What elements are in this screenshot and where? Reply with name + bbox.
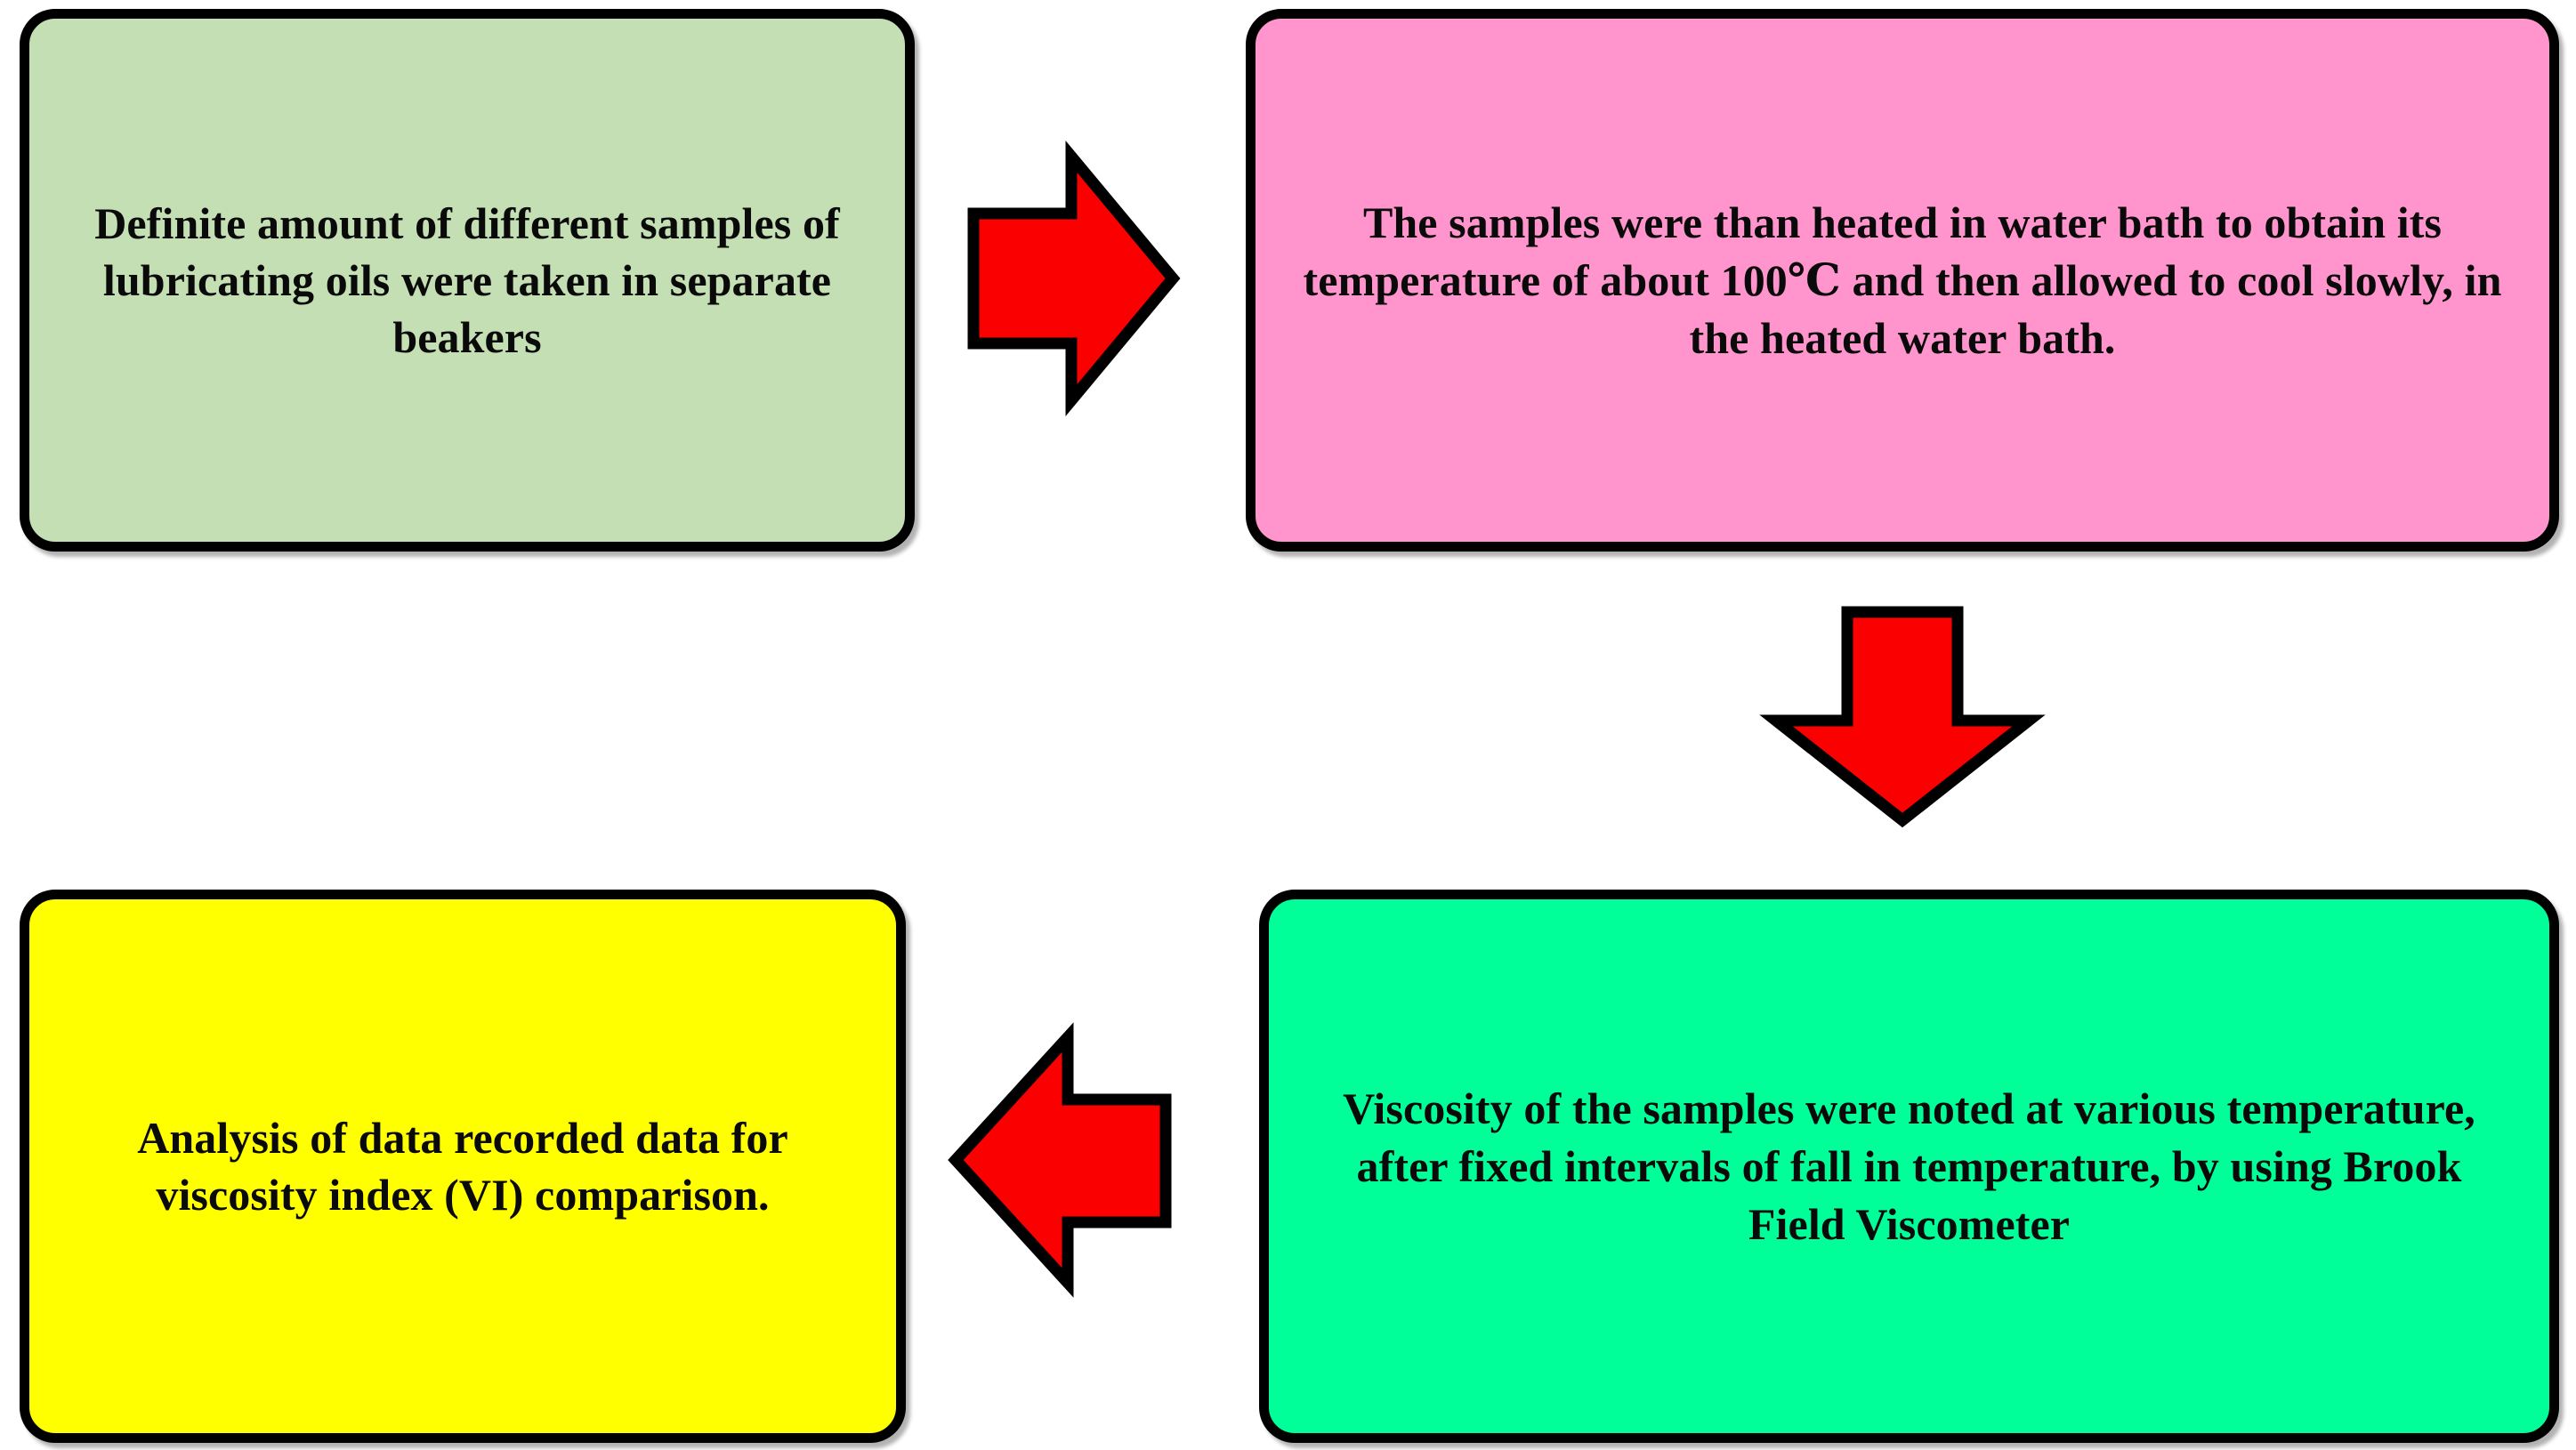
flowchart-node-samples-label: Definite amount of different samples of … xyxy=(29,195,905,366)
arrow-down-shape xyxy=(1776,612,2029,820)
flowchart-node-analysis-label: Analysis of data recorded data for visco… xyxy=(29,1109,896,1223)
flowchart-node-viscosity-label: Viscosity of the samples were noted at v… xyxy=(1269,1080,2549,1253)
arrow-left-shape xyxy=(956,1037,1166,1283)
arrow-left-icon xyxy=(949,1030,1173,1290)
arrow-down-icon xyxy=(1769,605,2036,827)
arrow-right-shape xyxy=(973,157,1173,400)
flowchart-node-analysis[interactable]: Analysis of data recorded data for visco… xyxy=(20,890,906,1443)
arrow-right-icon xyxy=(966,149,1180,407)
flowchart-node-viscosity[interactable]: Viscosity of the samples were noted at v… xyxy=(1259,890,2559,1443)
flowchart-node-heating[interactable]: The samples were than heated in water ba… xyxy=(1246,9,2559,552)
flowchart-canvas: Definite amount of different samples of … xyxy=(0,0,2576,1450)
flowchart-node-heating-label: The samples were than heated in water ba… xyxy=(1256,194,2549,367)
flowchart-node-samples[interactable]: Definite amount of different samples of … xyxy=(20,9,915,552)
